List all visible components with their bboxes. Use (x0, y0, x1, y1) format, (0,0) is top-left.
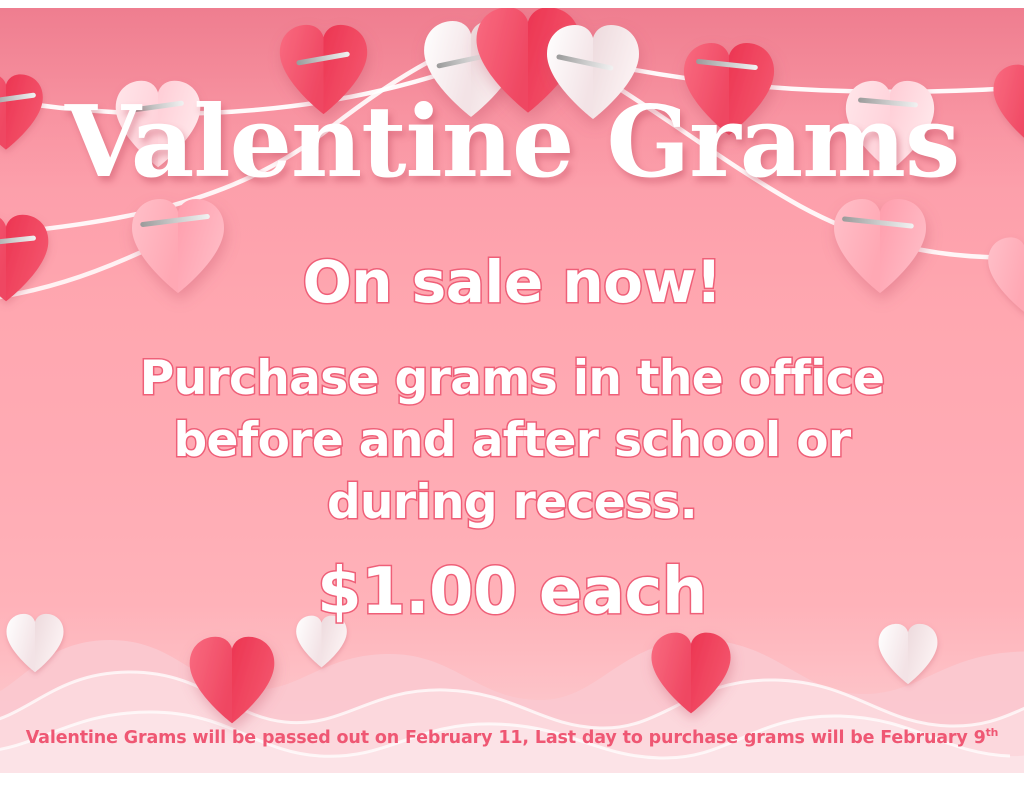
body-copy: Purchase grams in the office before and … (0, 348, 1024, 534)
footer-ordinal-suffix: th (986, 726, 999, 739)
subtitle-on-sale: On sale now! (0, 252, 1024, 313)
poster-content: Valentine Grams On sale now! Purchase gr… (0, 0, 1024, 791)
page-title: Valentine Grams (0, 94, 1024, 192)
footer-text: Valentine Grams will be passed out on Fe… (26, 728, 986, 748)
valentine-grams-poster: Valentine Grams On sale now! Purchase gr… (0, 0, 1024, 791)
footer-note: Valentine Grams will be passed out on Fe… (0, 726, 1024, 748)
body-line-2: before and after school or (0, 410, 1024, 472)
body-line-1: Purchase grams in the office (0, 348, 1024, 410)
price-text: $1.00 each (0, 560, 1024, 624)
body-line-3: during recess. (0, 472, 1024, 534)
